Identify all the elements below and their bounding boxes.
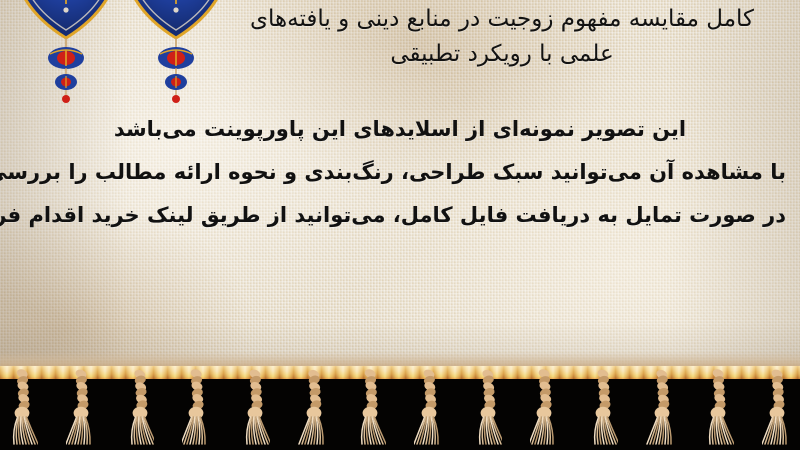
slide-title: کامل مقایسه مفهوم زوجیت در منابع دینی و …: [222, 2, 782, 72]
fringe-tassel: [646, 368, 676, 448]
slide-body-line-1: این تصویر نمونه‌ای از اسلایدهای این پاور…: [14, 108, 786, 151]
fringe-tassel: [240, 368, 270, 448]
fringe-tassel: [414, 368, 444, 448]
fringe-tassel: [762, 368, 792, 448]
slide-body-line-2: با مشاهده آن می‌توانید سبک طراحی، رنگ‌بن…: [14, 151, 786, 194]
carpet-medallion-right-icon: [124, 0, 228, 118]
fringe-tassel: [124, 368, 154, 448]
fringe-tassel: [530, 368, 560, 448]
fringe-tassel: [8, 368, 38, 448]
fringe-tassel: [472, 368, 502, 448]
fringe-tassel: [704, 368, 734, 448]
slide-canvas: کامل مقایسه مفهوم زوجیت در منابع دینی و …: [0, 0, 800, 450]
fringe-tassel: [588, 368, 618, 448]
slide-title-line-2: علمی با رویکرد تطبیقی: [222, 37, 782, 72]
slide-title-line-1: کامل مقایسه مفهوم زوجیت در منابع دینی و …: [222, 2, 782, 37]
fringe-tassel: [66, 368, 96, 448]
fringe-top-rope: [0, 366, 800, 379]
fringe-tassel: [356, 368, 386, 448]
fringe-tassel: [298, 368, 328, 448]
carpet-medallion-left-icon: [14, 0, 118, 118]
slide-body: این تصویر نمونه‌ای از اسلایدهای این پاور…: [14, 108, 786, 237]
slide-body-line-3: در صورت تمایل به دریافت فایل کامل، می‌تو…: [14, 194, 786, 237]
fringe-tassel: [182, 368, 212, 448]
carpet-fringe: [0, 366, 800, 450]
